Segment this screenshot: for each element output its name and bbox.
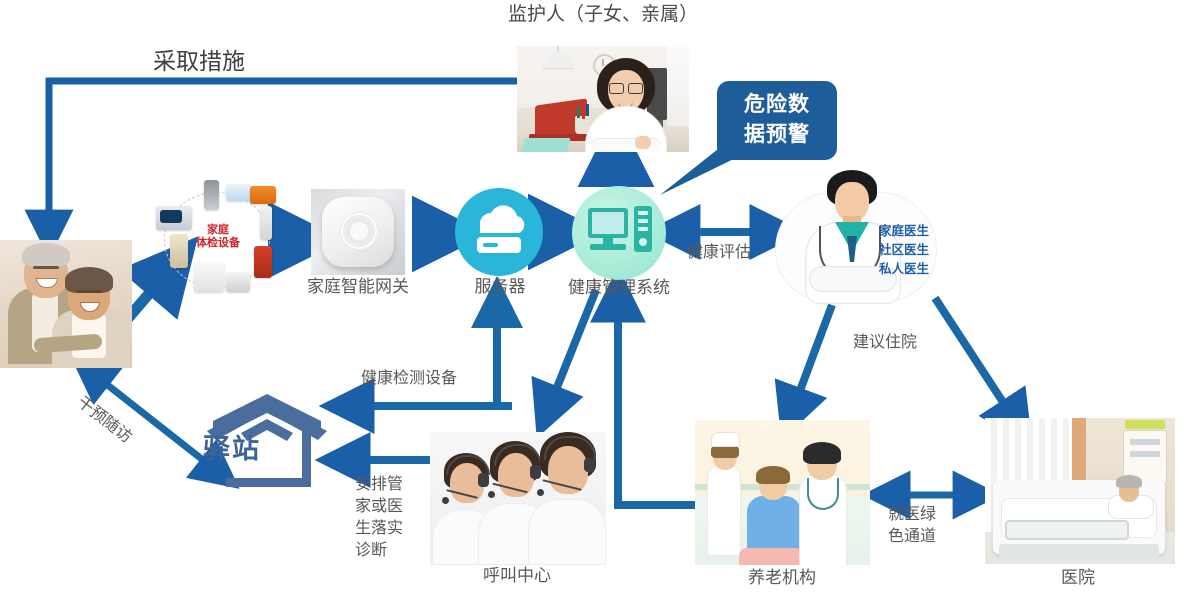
arrow-doctor-to-hospital xyxy=(935,298,1016,422)
hospital-bed-rail xyxy=(1005,520,1129,540)
elder-care-photo xyxy=(695,420,870,565)
device-thermometer xyxy=(204,180,219,210)
gateway-device xyxy=(322,197,394,267)
pen-holder xyxy=(577,106,580,118)
server-glyph xyxy=(455,188,543,276)
agent-body xyxy=(528,499,606,565)
home-gateway-photo xyxy=(311,189,405,275)
server-icon xyxy=(455,188,543,276)
health-management-system-icon xyxy=(572,186,666,280)
callout-line-2: 据预警 xyxy=(730,120,824,150)
hospital-photo xyxy=(985,418,1175,564)
device-thermometer-red xyxy=(254,246,272,278)
edge-label-suggest-hospitalization: 建议住院 xyxy=(853,333,917,352)
home-devices-label-line2: 体检设备 xyxy=(196,237,240,249)
edge-label-intervention-followup: 干预随访 xyxy=(73,389,138,447)
device-handheld-meter xyxy=(170,234,188,268)
gateway-center-dot xyxy=(350,222,368,240)
elder-care-caption: 养老机构 xyxy=(722,568,842,588)
home-devices-label-line1: 家庭 xyxy=(207,224,229,236)
elderly-couple-photo xyxy=(0,240,132,368)
danger-alert-callout[interactable]: 危险数 据预警 xyxy=(717,81,837,160)
home-health-devices: 家庭 体检设备 xyxy=(150,180,285,298)
hand xyxy=(635,136,651,149)
hms-caption: 健康管理系统 xyxy=(549,278,689,298)
guardian-photo xyxy=(517,46,689,152)
call-center-caption: 呼叫中心 xyxy=(452,566,582,586)
doctor-specialty-2: 私人医生 xyxy=(879,260,929,279)
edge-label-health-monitoring-devices: 健康检测设备 xyxy=(361,369,457,388)
patient-blanket xyxy=(739,548,803,565)
hospital-bed-base xyxy=(999,544,1159,560)
green-channel-line-2: 色通道 xyxy=(888,526,936,548)
arrow-eldercare-to-hms xyxy=(618,297,695,505)
arrange-line-2: 家或医 xyxy=(355,496,403,518)
notebook xyxy=(521,138,570,152)
device-scale xyxy=(194,262,224,292)
device-bp-monitor xyxy=(226,184,252,201)
station-caption: 驿站 xyxy=(203,427,261,466)
green-channel-line-1: 就医绿 xyxy=(888,504,936,526)
headset-mic xyxy=(442,497,449,504)
device-monitor-display xyxy=(160,210,182,223)
care-doctor-hair xyxy=(803,442,841,464)
elderly-man-eyes xyxy=(33,266,59,269)
headset-mic xyxy=(537,489,544,496)
guardian-title: 监护人（子女、亲属） xyxy=(487,5,719,25)
arrange-line-3: 生落实 xyxy=(355,518,403,540)
edge-label-health-assessment: 健康评估 xyxy=(687,243,751,262)
headset-mic xyxy=(488,491,495,498)
elderly-woman-eyes xyxy=(76,290,102,293)
guardian-person xyxy=(583,58,669,152)
arrow-hms-to-call-center xyxy=(548,290,596,410)
arrange-line-4: 诊断 xyxy=(355,540,403,562)
doctor-specialty-0: 家庭医生 xyxy=(879,222,929,241)
server-caption: 服务器 xyxy=(445,277,555,297)
care-stethoscope-icon xyxy=(807,478,839,510)
doctor-node: 家庭医生 社区医生 私人医生 xyxy=(775,170,950,310)
elderly-man-hair xyxy=(22,243,70,267)
device-tester xyxy=(226,272,250,292)
doctor-specialties: 家庭医生 社区医生 私人医生 xyxy=(879,222,929,279)
agent-front xyxy=(528,432,606,565)
hospital-caption: 医院 xyxy=(1028,568,1128,588)
nurse-body xyxy=(707,464,741,556)
patient-hair xyxy=(756,466,790,484)
gateway-caption: 家庭智能网关 xyxy=(298,277,418,297)
diagram-canvas: 监护人（子女、亲属） 危险数 据预警 家庭 体 xyxy=(0,0,1203,603)
arrange-line-1: 安排管 xyxy=(355,474,403,496)
home-devices-label: 家庭 体检设备 xyxy=(188,224,248,250)
doctor-specialty-1: 社区医生 xyxy=(879,241,929,260)
hms-glyph xyxy=(572,186,666,280)
headset-earpiece xyxy=(584,458,595,472)
hospital-patient-hair xyxy=(1116,475,1142,488)
callout-line-1: 危险数 xyxy=(744,93,810,116)
nurse-cap-icon xyxy=(712,433,739,446)
hospital-sign xyxy=(1125,420,1165,429)
glasses-icon xyxy=(609,83,643,92)
arrow-doctor-to-eldercare xyxy=(792,305,832,412)
edge-label-arrange-steward: 安排管 家或医 生落实 诊断 xyxy=(355,474,403,562)
call-center-photo xyxy=(430,432,606,565)
edge-label-green-channel: 就医绿 色通道 xyxy=(888,504,936,548)
device-pulse-oximeter xyxy=(260,206,272,240)
edge-label-take-measures: 采取措施 xyxy=(153,52,245,71)
arrow-health-monitoring-devices xyxy=(349,300,512,406)
device-glucose-orange xyxy=(250,186,276,204)
